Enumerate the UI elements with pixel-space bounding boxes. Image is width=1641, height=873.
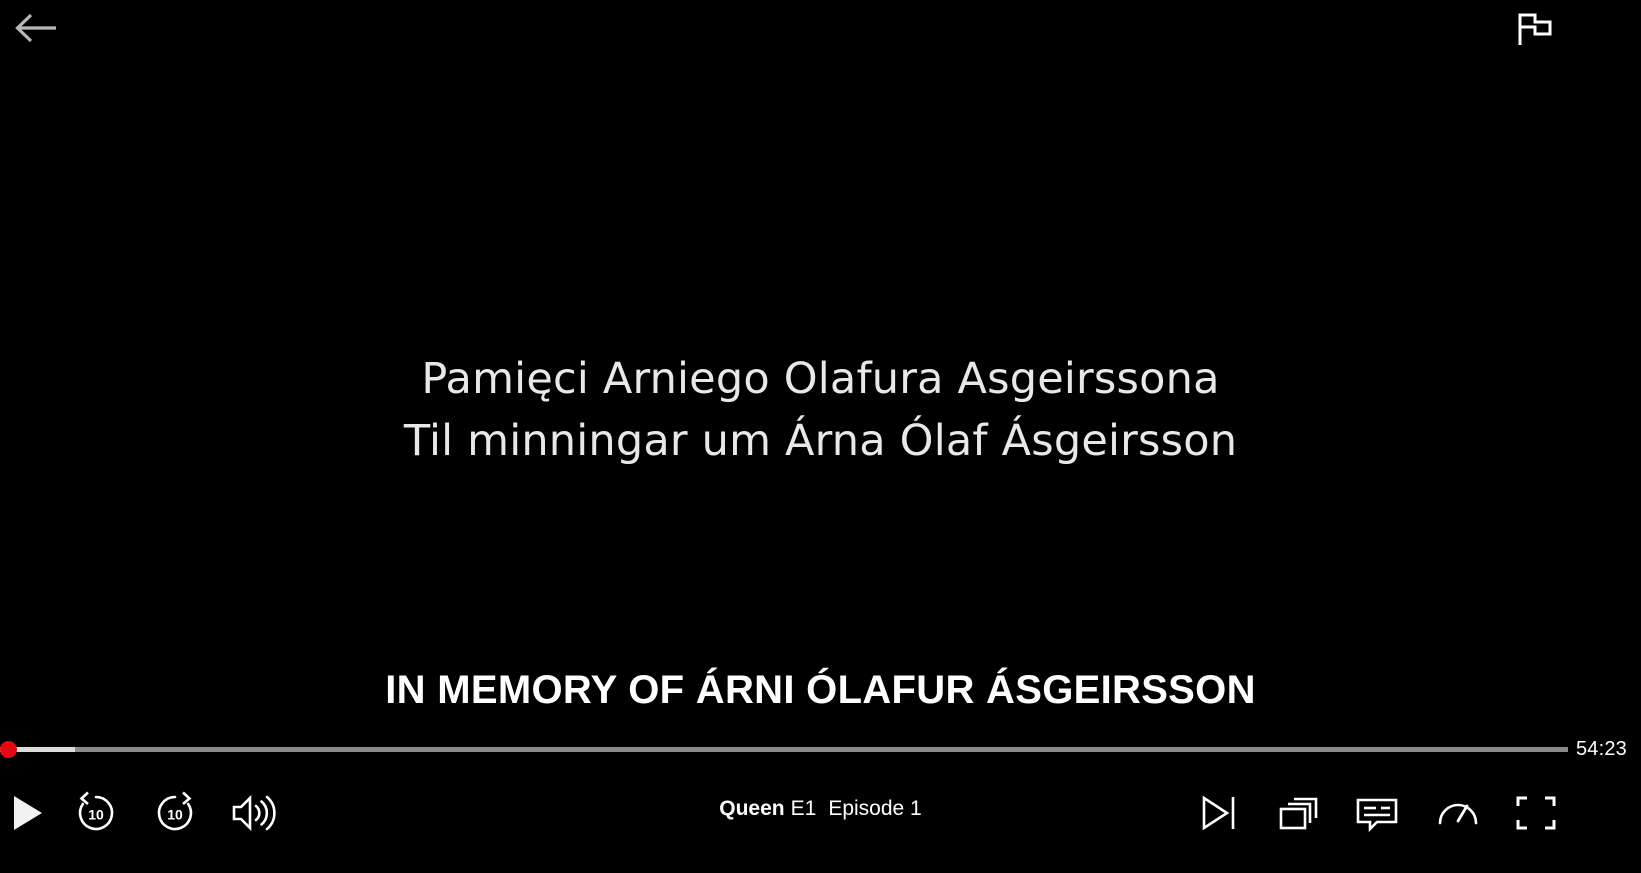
dedication-line-polish: Pamięci Arniego Olafura Asgeirssona — [421, 354, 1219, 404]
progress-thumb[interactable] — [0, 741, 17, 758]
fullscreen-button[interactable] — [1508, 785, 1564, 841]
next-episode-button[interactable] — [1192, 785, 1248, 841]
burned-in-dedication-text: Pamięci Arniego Olafura Asgeirssona Til … — [0, 348, 1641, 472]
control-buttons-row: 10 10 — [0, 775, 1641, 855]
report-button[interactable] — [1509, 6, 1561, 56]
show-name: Queen — [719, 797, 784, 820]
subtitles-button[interactable] — [1350, 785, 1406, 841]
video-player: Pamięci Arniego Olafura Asgeirssona Til … — [0, 0, 1641, 873]
progress-scrubber[interactable] — [0, 747, 1568, 752]
playback-speed-button[interactable] — [1430, 785, 1486, 841]
speed-gauge-icon — [1435, 791, 1481, 835]
time-remaining-label: 54:23 — [1576, 738, 1627, 761]
episodes-stack-icon — [1277, 793, 1323, 833]
subtitles-icon — [1353, 793, 1403, 833]
episode-name: Episode 1 — [828, 797, 921, 820]
back-arrow-icon — [14, 12, 58, 49]
fullscreen-icon — [1513, 793, 1559, 833]
next-episode-icon — [1197, 793, 1243, 833]
player-controls: 54:23 10 — [0, 723, 1641, 873]
progress-row: 54:23 — [0, 735, 1641, 765]
player-top-bar — [0, 0, 1641, 70]
episodes-button[interactable] — [1272, 785, 1328, 841]
episode-number: E1 — [791, 797, 817, 820]
subtitle-text: IN MEMORY OF ÁRNI ÓLAFUR ÁSGEIRSSON — [0, 668, 1641, 713]
back-button[interactable] — [8, 4, 64, 56]
dedication-line-icelandic: Til minningar um Árna Ólaf Ásgeirsson — [0, 410, 1641, 472]
flag-icon — [1514, 9, 1556, 54]
